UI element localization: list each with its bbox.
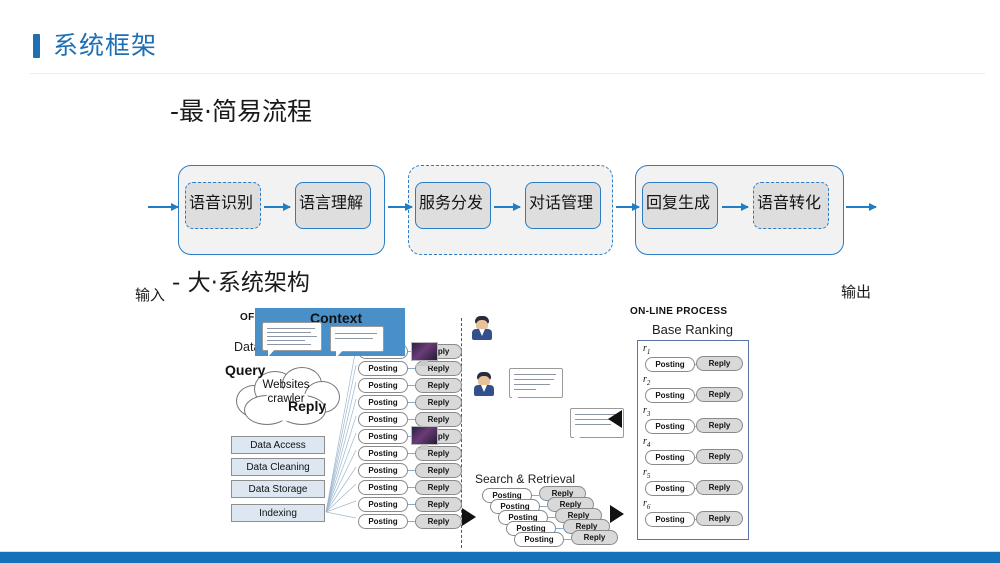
search-inflow-arrow-icon [462,508,476,526]
flow-node-tts-label: 语音转化 [757,192,843,213]
reply-pill[interactable]: Reply [415,412,462,427]
posting-pill[interactable]: Posting [358,480,408,495]
posting-pill[interactable]: Posting [514,532,564,547]
input-label: 输入 [135,288,165,303]
flow-node-reply-generation-label: 回复生成 [646,192,732,213]
output-label: 输出 [841,285,871,300]
monitor-icon-reply [411,426,438,450]
pair-link [408,453,415,454]
bottom-accent-bar [0,552,1000,563]
pair-link [408,402,415,403]
posting-pill[interactable]: Posting [358,514,408,529]
context-bubble-1 [262,322,322,351]
flow-node-asr-label: 语音识别 [189,192,275,213]
posting-pill[interactable]: Posting [358,463,408,478]
reply-pill[interactable]: Reply [415,378,462,393]
flow-arrow-4 [616,206,639,208]
pair-link [548,517,555,518]
reply-pill[interactable]: Reply [696,511,743,526]
flow-arrow-5 [722,206,748,208]
posting-pill[interactable]: Posting [358,378,408,393]
pair-link [408,385,415,386]
reply-pill[interactable]: Reply [696,418,743,433]
header-divider [30,73,985,74]
reply-flow-arrow-left-icon [608,410,622,428]
monitor-icon-context [411,342,438,366]
flow-arrow-3 [494,206,520,208]
posting-pill[interactable]: Posting [645,388,695,403]
cloud-label-line1: Websites [262,379,309,391]
posting-pill[interactable]: Posting [358,361,408,376]
title-accent-bar [33,34,40,58]
online-process-header: ON-LINE PROCESS [630,306,727,317]
slide-canvas: 系统框架 -最·简易流程 输入 输出 语音识别 语言理解 服务分发 对话管理 回… [0,0,1000,563]
base-ranking-title: Base Ranking [652,322,733,337]
simple-flow-diagram: 输入 输出 语音识别 语言理解 服务分发 对话管理 回复生成 语音转化 [0,140,1000,265]
reply-pill[interactable]: Reply [415,497,462,512]
posting-pill[interactable]: Posting [358,497,408,512]
flow-node-nlu-label: 语言理解 [299,192,385,213]
pair-link [408,368,415,369]
pair-link [408,504,415,505]
query-bubble [509,368,563,398]
posting-pill[interactable]: Posting [645,450,695,465]
pair-link [532,495,539,496]
section-two-heading: - 大·系统架构 [172,272,310,295]
posting-pill[interactable]: Posting [645,481,695,496]
flow-node-service-dispatch-label: 服务分发 [419,192,505,213]
reply-pill[interactable]: Reply [415,395,462,410]
cloud-label-line2: crawler [267,393,304,405]
flow-arrow-2 [388,206,412,208]
flow-arrow-output [846,206,876,208]
context-bubble-2-tail [336,349,344,358]
pair-link [564,539,571,540]
pipeline-data-cleaning[interactable]: Data Cleaning [231,458,325,476]
user-avatar-context [472,316,492,340]
search-outflow-arrow-icon [610,505,624,523]
context-bubble-1-tail [268,348,276,357]
query-bubble-tail [512,395,520,404]
pair-link [408,419,415,420]
page-title: 系统框架 [33,33,157,58]
reply-pill[interactable]: Reply [415,480,462,495]
reply-pill[interactable]: Reply [696,480,743,495]
rank-label-3: r3 [643,405,650,418]
posting-pill[interactable]: Posting [358,446,408,461]
architecture-diagram: OFF-LINE PROCESS ON-LINE PROCESS Data Pr… [190,300,790,550]
pipeline-indexing[interactable]: Indexing [231,504,325,522]
section-one-heading: -最·简易流程 [170,99,312,124]
reply-pill[interactable]: Reply [696,387,743,402]
pipeline-data-access[interactable]: Data Access [231,436,325,454]
posting-pill[interactable]: Posting [358,429,408,444]
posting-pill[interactable]: Posting [645,512,695,527]
reply-bubble-tail [574,435,582,444]
pair-link [408,521,415,522]
pipeline-data-storage[interactable]: Data Storage [231,480,325,498]
posting-pill[interactable]: Posting [358,412,408,427]
pair-link [556,528,563,529]
pair-link [408,470,415,471]
rank-label-1: r1 [643,343,650,356]
flow-arrow-1 [264,206,290,208]
reply-pill[interactable]: Reply [696,356,743,371]
cloud-label: Websites crawler [230,378,342,406]
pair-link [540,506,547,507]
reply-pill[interactable]: Reply [415,514,462,529]
rank-label-6: r6 [643,498,650,511]
reply-pill[interactable]: Reply [696,449,743,464]
title-text: 系统框架 [53,33,157,58]
search-retrieval-title: Search & Retrieval [475,472,575,486]
posting-pill[interactable]: Posting [645,419,695,434]
rank-label-2: r2 [643,374,650,387]
reply-pill[interactable]: Reply [571,530,618,545]
flow-arrow-input [148,206,178,208]
posting-pill[interactable]: Posting [645,357,695,372]
query-label: Query [225,362,265,378]
rank-label-4: r4 [643,436,650,449]
user-avatar-query [474,372,494,396]
flow-node-dialog-management-label: 对话管理 [529,192,615,213]
rank-label-5: r5 [643,467,650,480]
posting-pill[interactable]: Posting [358,395,408,410]
reply-pill[interactable]: Reply [415,463,462,478]
pair-link [408,487,415,488]
